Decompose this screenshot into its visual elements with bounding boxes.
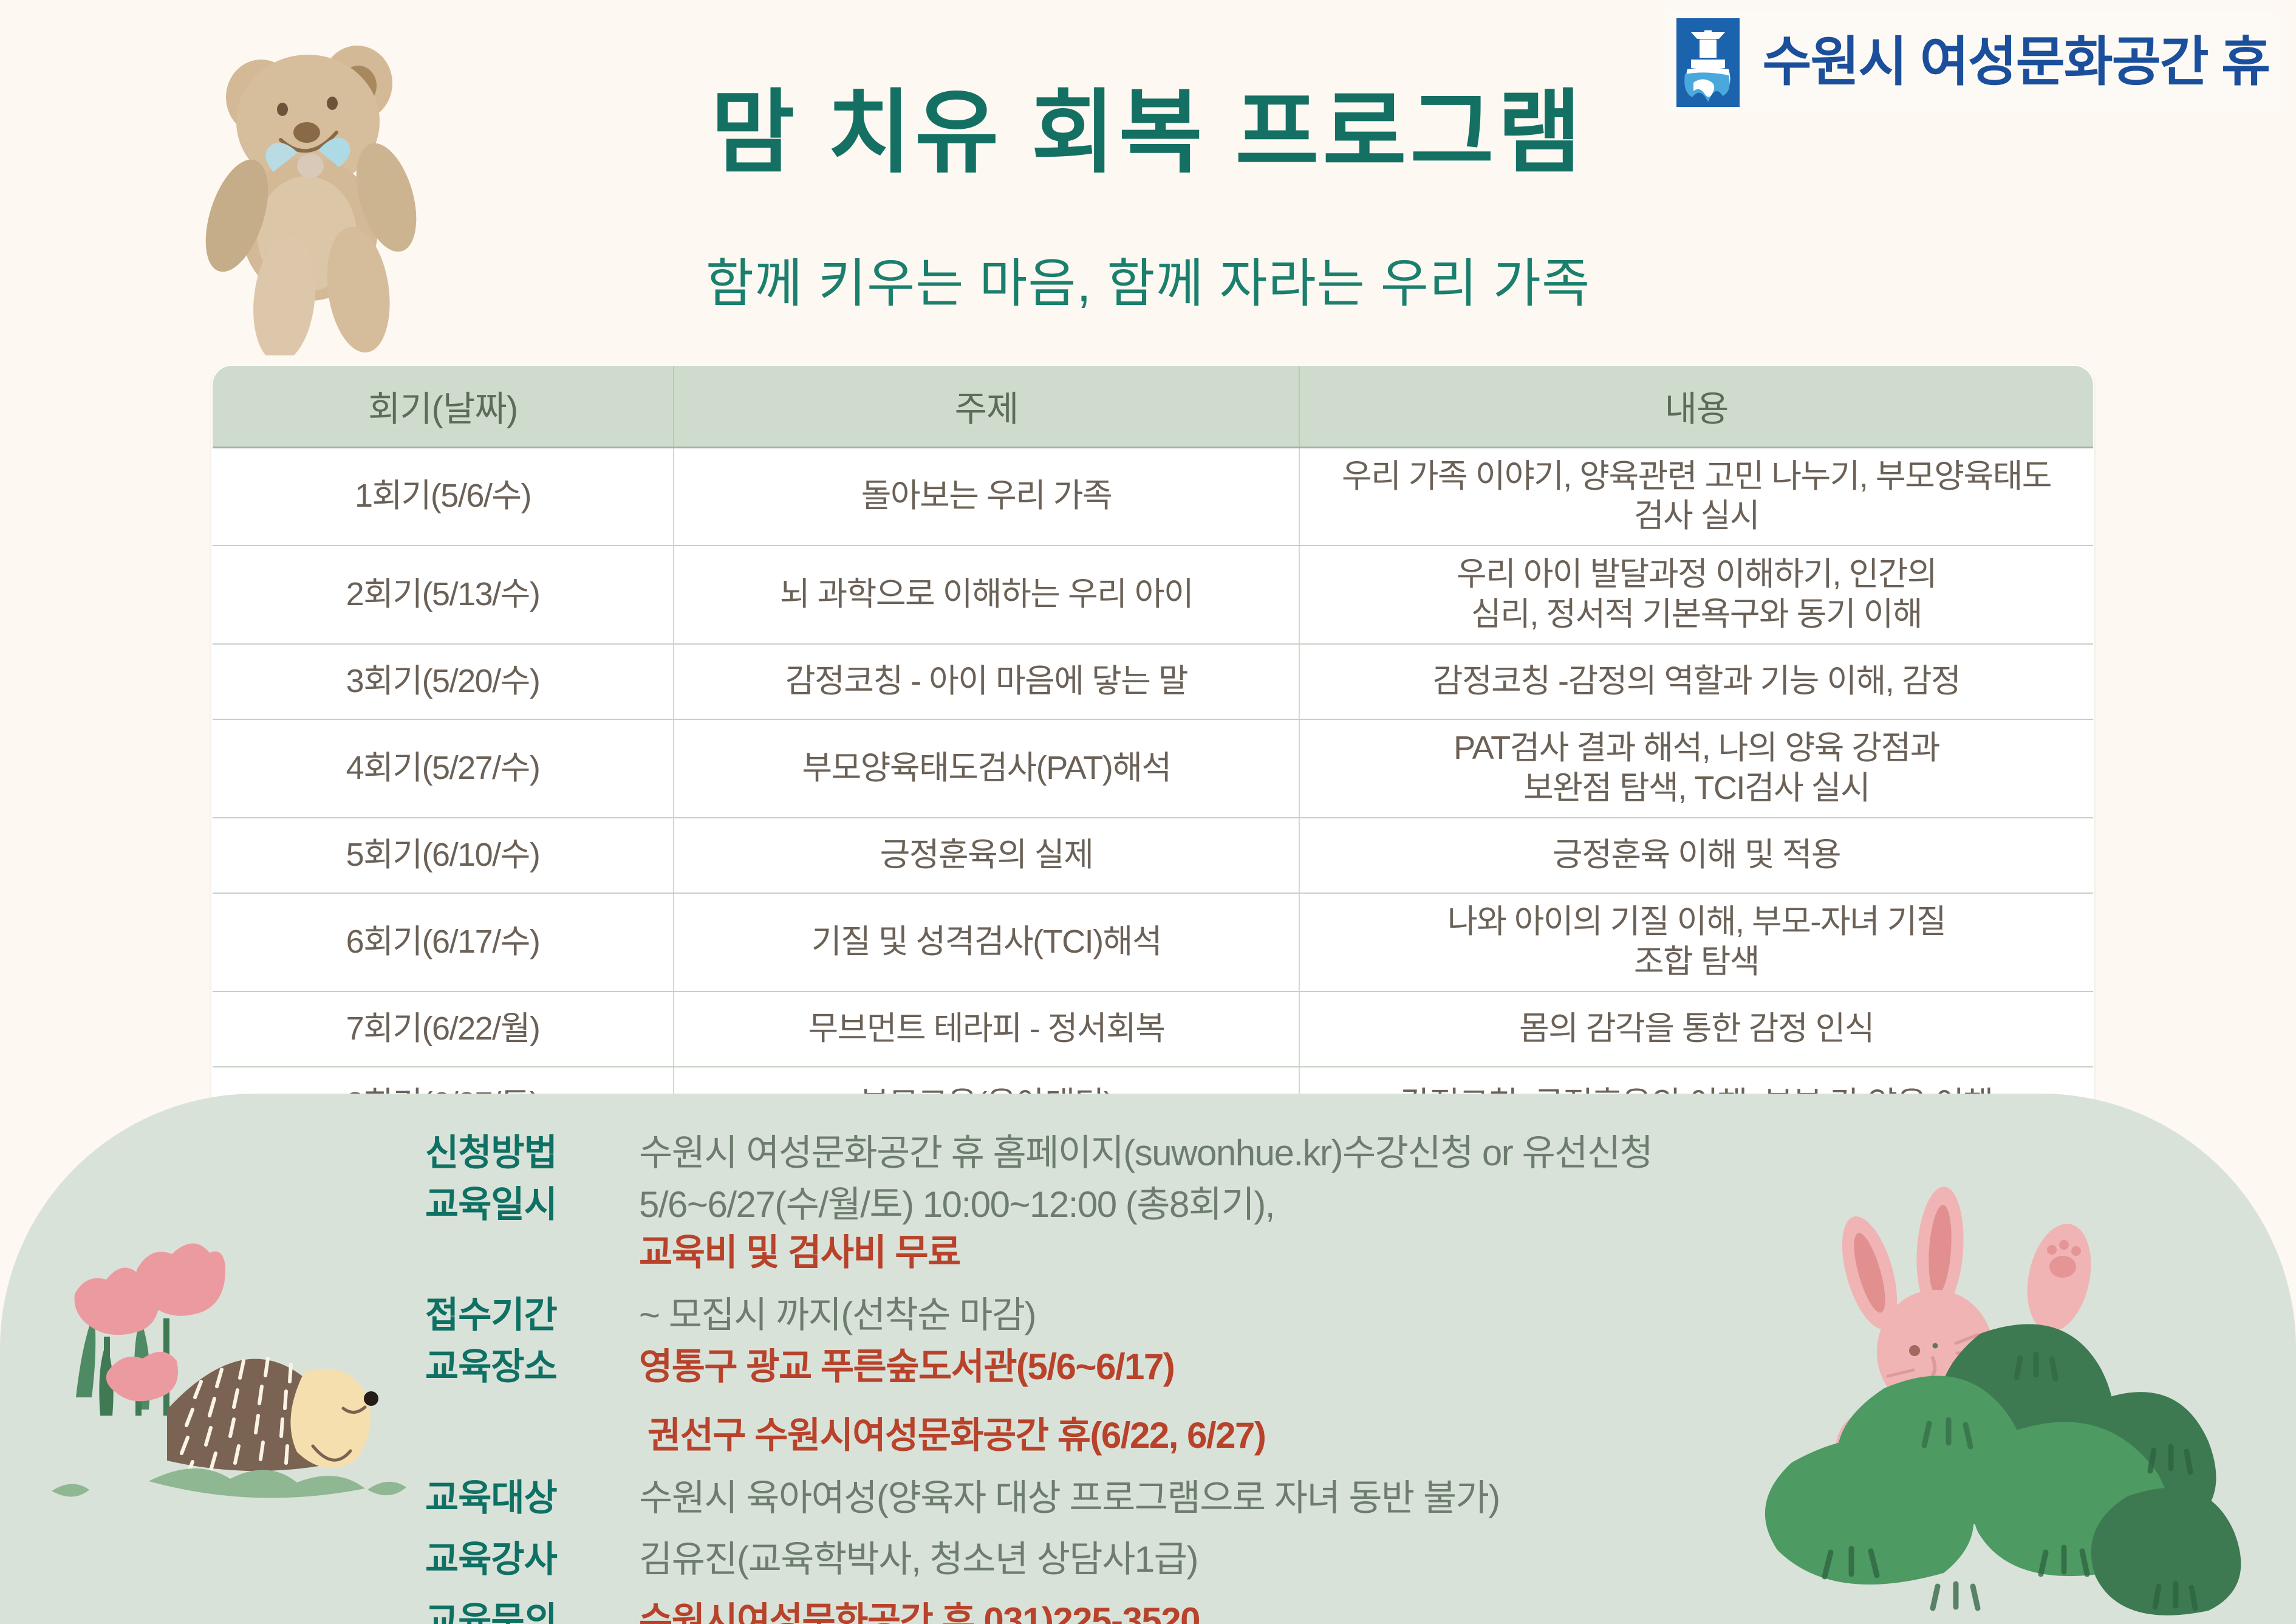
info-value-instructor: 김유진(교육학박사, 청소년 상담사1급) <box>607 1535 1944 1583</box>
cell-content: 감정코칭 -감정의 역할과 기능 이해, 감정 <box>1299 644 2094 719</box>
cell-session: 3회기(5/20/수) <box>212 644 674 719</box>
info-row-period: 접수기간 ~ 모집시 까지(선착순 마감) <box>425 1291 1944 1339</box>
cell-topic: 부모양육태도검사(PAT)해석 <box>674 719 1299 818</box>
poster-root: 수원시 여성문화공간 휴 맘 치유 회복 프로그램 함께 키우는 마음, 함께 … <box>0 0 2296 1624</box>
cell-session: 5회기(6/10/수) <box>212 818 674 893</box>
cell-topic: 긍정훈육의 실제 <box>674 818 1299 893</box>
info-row-inquiry: 교육문의 수원시여성문화공간 휴 031)225-3520 <box>425 1597 1944 1624</box>
table-header-row: 회기(날짜) 주제 내용 <box>212 365 2094 447</box>
info-value-target: 수원시 육아여성(양육자 대상 프로그램으로 자녀 동반 불가) <box>607 1474 1944 1522</box>
info-row-instructor: 교육강사 김유진(교육학박사, 청소년 상담사1급) <box>425 1535 1944 1583</box>
info-value-place-1: 영통구 광교 푸른숲도서관(5/6~6/17) <box>607 1343 1944 1391</box>
page-title: 맘 치유 회복 프로그램 <box>0 85 2296 181</box>
schedule-table: 회기(날짜) 주제 내용 1회기(5/6/수)돌아보는 우리 가족우리 가족 이… <box>211 365 2094 1143</box>
info-value-schedule-note: 교육비 및 검사비 무료 <box>607 1228 1944 1277</box>
info-label-instructor: 교육강사 <box>425 1535 607 1583</box>
info-value-apply-method: 수원시 여성문화공간 휴 홈페이지(suwonhue.kr)수강신청 or 유선… <box>607 1129 1944 1177</box>
info-row-apply-method: 신청방법 수원시 여성문화공간 휴 홈페이지(suwonhue.kr)수강신청 … <box>425 1129 1944 1177</box>
cell-session: 4회기(5/27/수) <box>212 719 674 818</box>
table-row: 7회기(6/22/월)무브먼트 테라피 - 정서회복몸의 감각을 통한 감정 인… <box>212 992 2094 1067</box>
cell-topic: 돌아보는 우리 가족 <box>674 447 1299 546</box>
cell-session: 1회기(5/6/수) <box>212 447 674 546</box>
info-label-period: 접수기간 <box>425 1291 607 1339</box>
cell-topic: 기질 및 성격검사(TCI)해석 <box>674 893 1299 992</box>
info-label-inquiry: 교육문의 <box>425 1597 607 1624</box>
info-label-apply-method: 신청방법 <box>425 1129 607 1177</box>
table-row: 1회기(5/6/수)돌아보는 우리 가족우리 가족 이야기, 양육관련 고민 나… <box>212 447 2094 546</box>
table-row: 2회기(5/13/수)뇌 과학으로 이해하는 우리 아이우리 아이 발달과정 이… <box>212 546 2094 644</box>
info-label-target: 교육대상 <box>425 1474 607 1522</box>
info-row-place: 교육장소 영통구 광교 푸른숲도서관(5/6~6/17) 권선구 수원시여성문화… <box>425 1343 1944 1461</box>
table-row: 5회기(6/10/수)긍정훈육의 실제긍정훈육 이해 및 적용 <box>212 818 2094 893</box>
info-value-inquiry: 수원시여성문화공간 휴 031)225-3520 <box>607 1597 1944 1624</box>
cell-content: 우리 아이 발달과정 이해하기, 인간의심리, 정서적 기본욕구와 동기 이해 <box>1299 546 2094 644</box>
cell-content: 긍정훈육 이해 및 적용 <box>1299 818 2094 893</box>
cell-content: 우리 가족 이야기, 양육관련 고민 나누기, 부모양육태도검사 실시 <box>1299 447 2094 546</box>
table-row: 3회기(5/20/수)감정코칭 - 아이 마음에 닿는 말감정코칭 -감정의 역… <box>212 644 2094 719</box>
table-row: 4회기(5/27/수)부모양육태도검사(PAT)해석PAT검사 결과 해석, 나… <box>212 719 2094 818</box>
info-panel: 신청방법 수원시 여성문화공간 휴 홈페이지(suwonhue.kr)수강신청 … <box>0 1094 2296 1624</box>
logo-text: 수원시 여성문화공간 휴 <box>1763 35 2270 89</box>
cell-content: 몸의 감각을 통한 감정 인식 <box>1299 992 2094 1067</box>
cell-topic: 뇌 과학으로 이해하는 우리 아이 <box>674 546 1299 644</box>
cell-topic: 감정코칭 - 아이 마음에 닿는 말 <box>674 644 1299 719</box>
page-subtitle: 함께 키우는 마음, 함께 자라는 우리 가족 <box>0 255 2296 313</box>
column-header-session: 회기(날짜) <box>212 365 674 447</box>
cell-topic: 무브먼트 테라피 - 정서회복 <box>674 992 1299 1067</box>
info-label-place: 교육장소 <box>425 1343 607 1391</box>
info-label-schedule: 교육일시 <box>425 1180 607 1228</box>
info-value-place-2: 권선구 수원시여성문화공간 휴(6/22, 6/27) <box>607 1411 1944 1460</box>
cell-session: 2회기(5/13/수) <box>212 546 674 644</box>
cell-session: 6회기(6/17/수) <box>212 893 674 992</box>
column-header-topic: 주제 <box>674 365 1299 447</box>
info-row-schedule: 교육일시 5/6~6/27(수/월/토) 10:00~12:00 (총8회기),… <box>425 1180 1944 1278</box>
cell-content: PAT검사 결과 해석, 나의 양육 강점과보완점 탐색, TCI검사 실시 <box>1299 719 2094 818</box>
cell-content: 나와 아이의 기질 이해, 부모-자녀 기질조합 탐색 <box>1299 893 2094 992</box>
table-row: 6회기(6/17/수)기질 및 성격검사(TCI)해석나와 아이의 기질 이해,… <box>212 893 2094 992</box>
info-value-schedule: 5/6~6/27(수/월/토) 10:00~12:00 (총8회기), <box>607 1180 1944 1228</box>
column-header-content: 내용 <box>1299 365 2094 447</box>
info-row-target: 교육대상 수원시 육아여성(양육자 대상 프로그램으로 자녀 동반 불가) <box>425 1474 1944 1522</box>
hedgehog-with-tulips-illustration <box>27 1215 416 1519</box>
info-rows: 신청방법 수원시 여성문화공간 휴 홈페이지(suwonhue.kr)수강신청 … <box>425 1129 1944 1624</box>
cell-session: 7회기(6/22/월) <box>212 992 674 1067</box>
info-value-period: ~ 모집시 까지(선착순 마감) <box>607 1291 1944 1339</box>
